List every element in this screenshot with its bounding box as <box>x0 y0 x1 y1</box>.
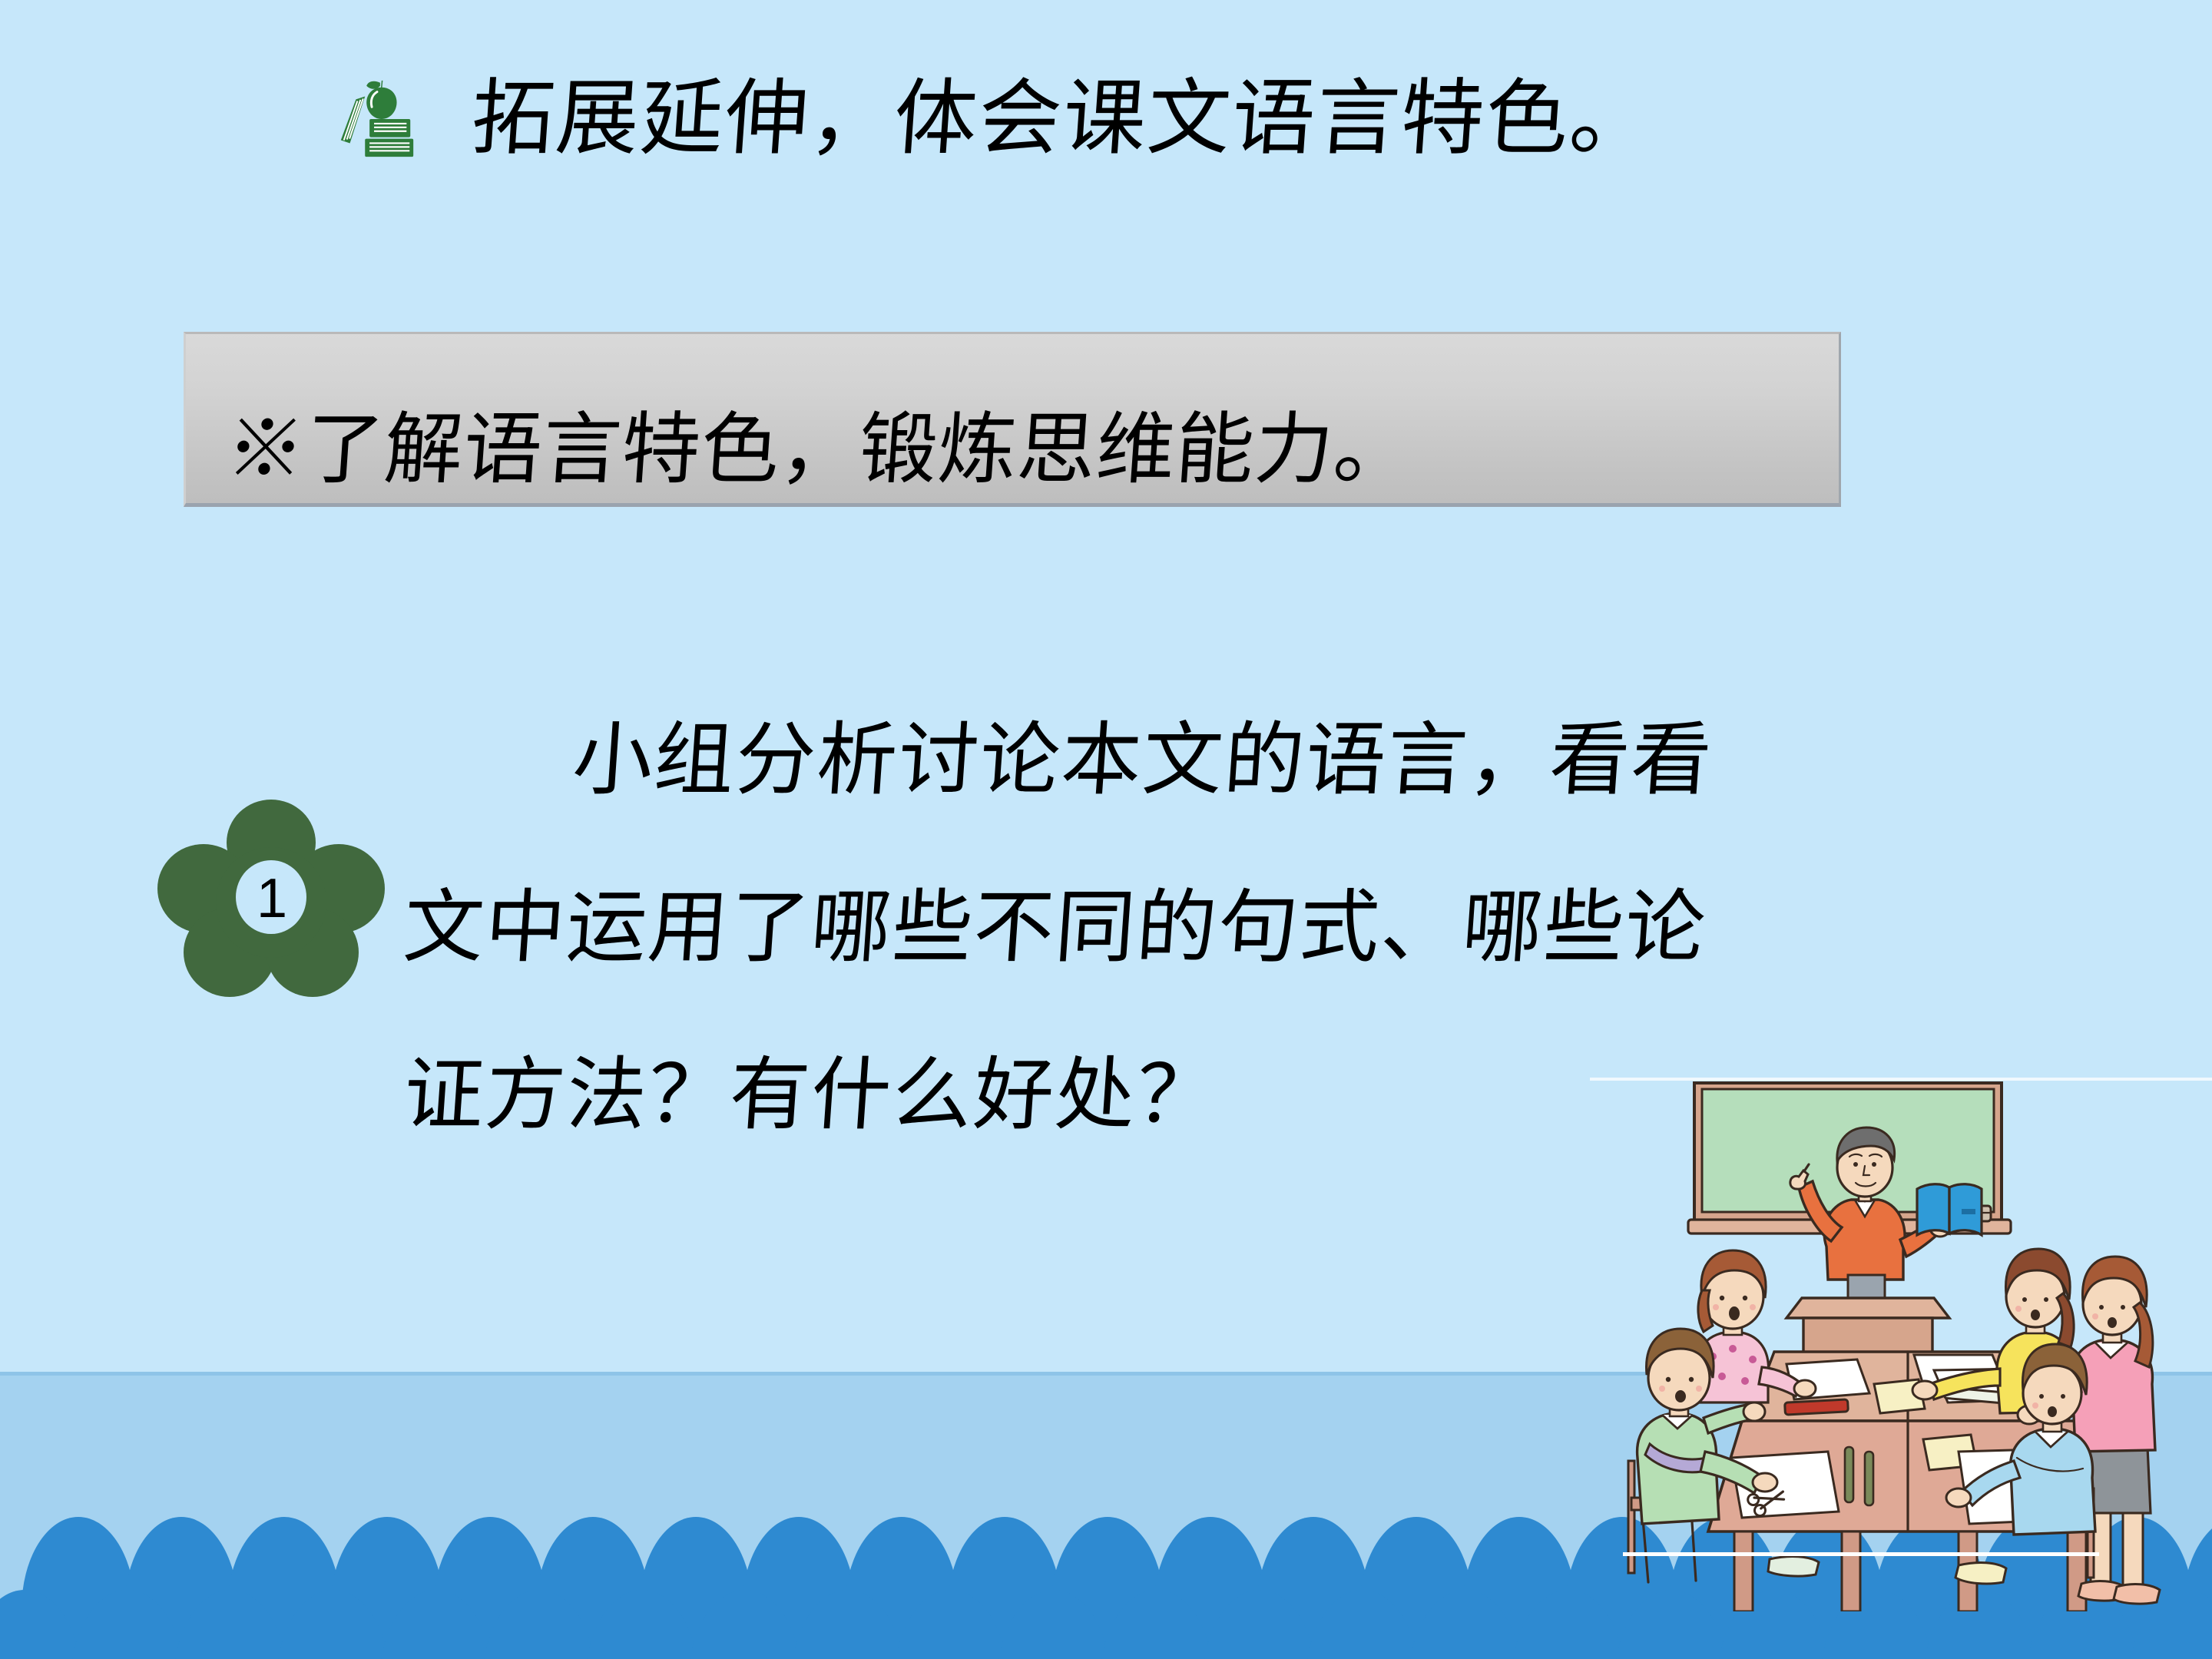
scallop-shape <box>276 1590 390 1659</box>
scallop-shape <box>1306 1590 1419 1659</box>
teacher-book <box>1917 1184 1982 1235</box>
question-line-2: 文中运用了哪些不同的句式、哪些论 <box>398 843 1895 1011</box>
objective-box: ※了解语言特色，锻炼思维能力。 <box>184 332 1841 507</box>
page-title: 拓展延伸，体会课文语言特色。 <box>469 74 1657 165</box>
scallop-shape <box>688 1590 802 1659</box>
classroom-group-discussion-illustration: .ln { fill:none; stroke:#3a2a20; stroke-… <box>1611 1074 2212 1611</box>
scallop-shape <box>997 1590 1111 1659</box>
scallop-shape <box>0 1590 81 1659</box>
scallop-shape <box>174 1590 287 1659</box>
slide-canvas: 拓展延伸，体会课文语言特色。 ※了解语言特色，锻炼思维能力。 1 小组分析讨论本… <box>0 0 2212 1659</box>
scallop-shape <box>1409 1590 1522 1659</box>
scallop-shape <box>791 1590 905 1659</box>
illustration-bottom-rule <box>1623 1552 2099 1556</box>
flower-badge-number: 1 <box>156 795 386 1002</box>
scallop-shape <box>379 1590 493 1659</box>
scallop-shape <box>1203 1590 1316 1659</box>
scallop-shape <box>585 1590 699 1659</box>
scallop-shape <box>1512 1590 1625 1659</box>
scallop-shape <box>71 1590 184 1659</box>
flower-badge-icon: 1 <box>156 795 386 1002</box>
books-apple-icon <box>330 73 421 165</box>
objective-text: ※了解语言特色，锻炼思维能力。 <box>183 411 1416 503</box>
slide-header: 拓展延伸，体会课文语言特色。 <box>330 73 1654 165</box>
scallop-shape <box>482 1590 596 1659</box>
scallop-shape <box>1100 1590 1214 1659</box>
question-line-1: 小组分析讨论本文的语言，看看 <box>424 676 1895 843</box>
scallop-shape <box>894 1590 1008 1659</box>
student-pink-dress <box>1697 1250 1816 1402</box>
